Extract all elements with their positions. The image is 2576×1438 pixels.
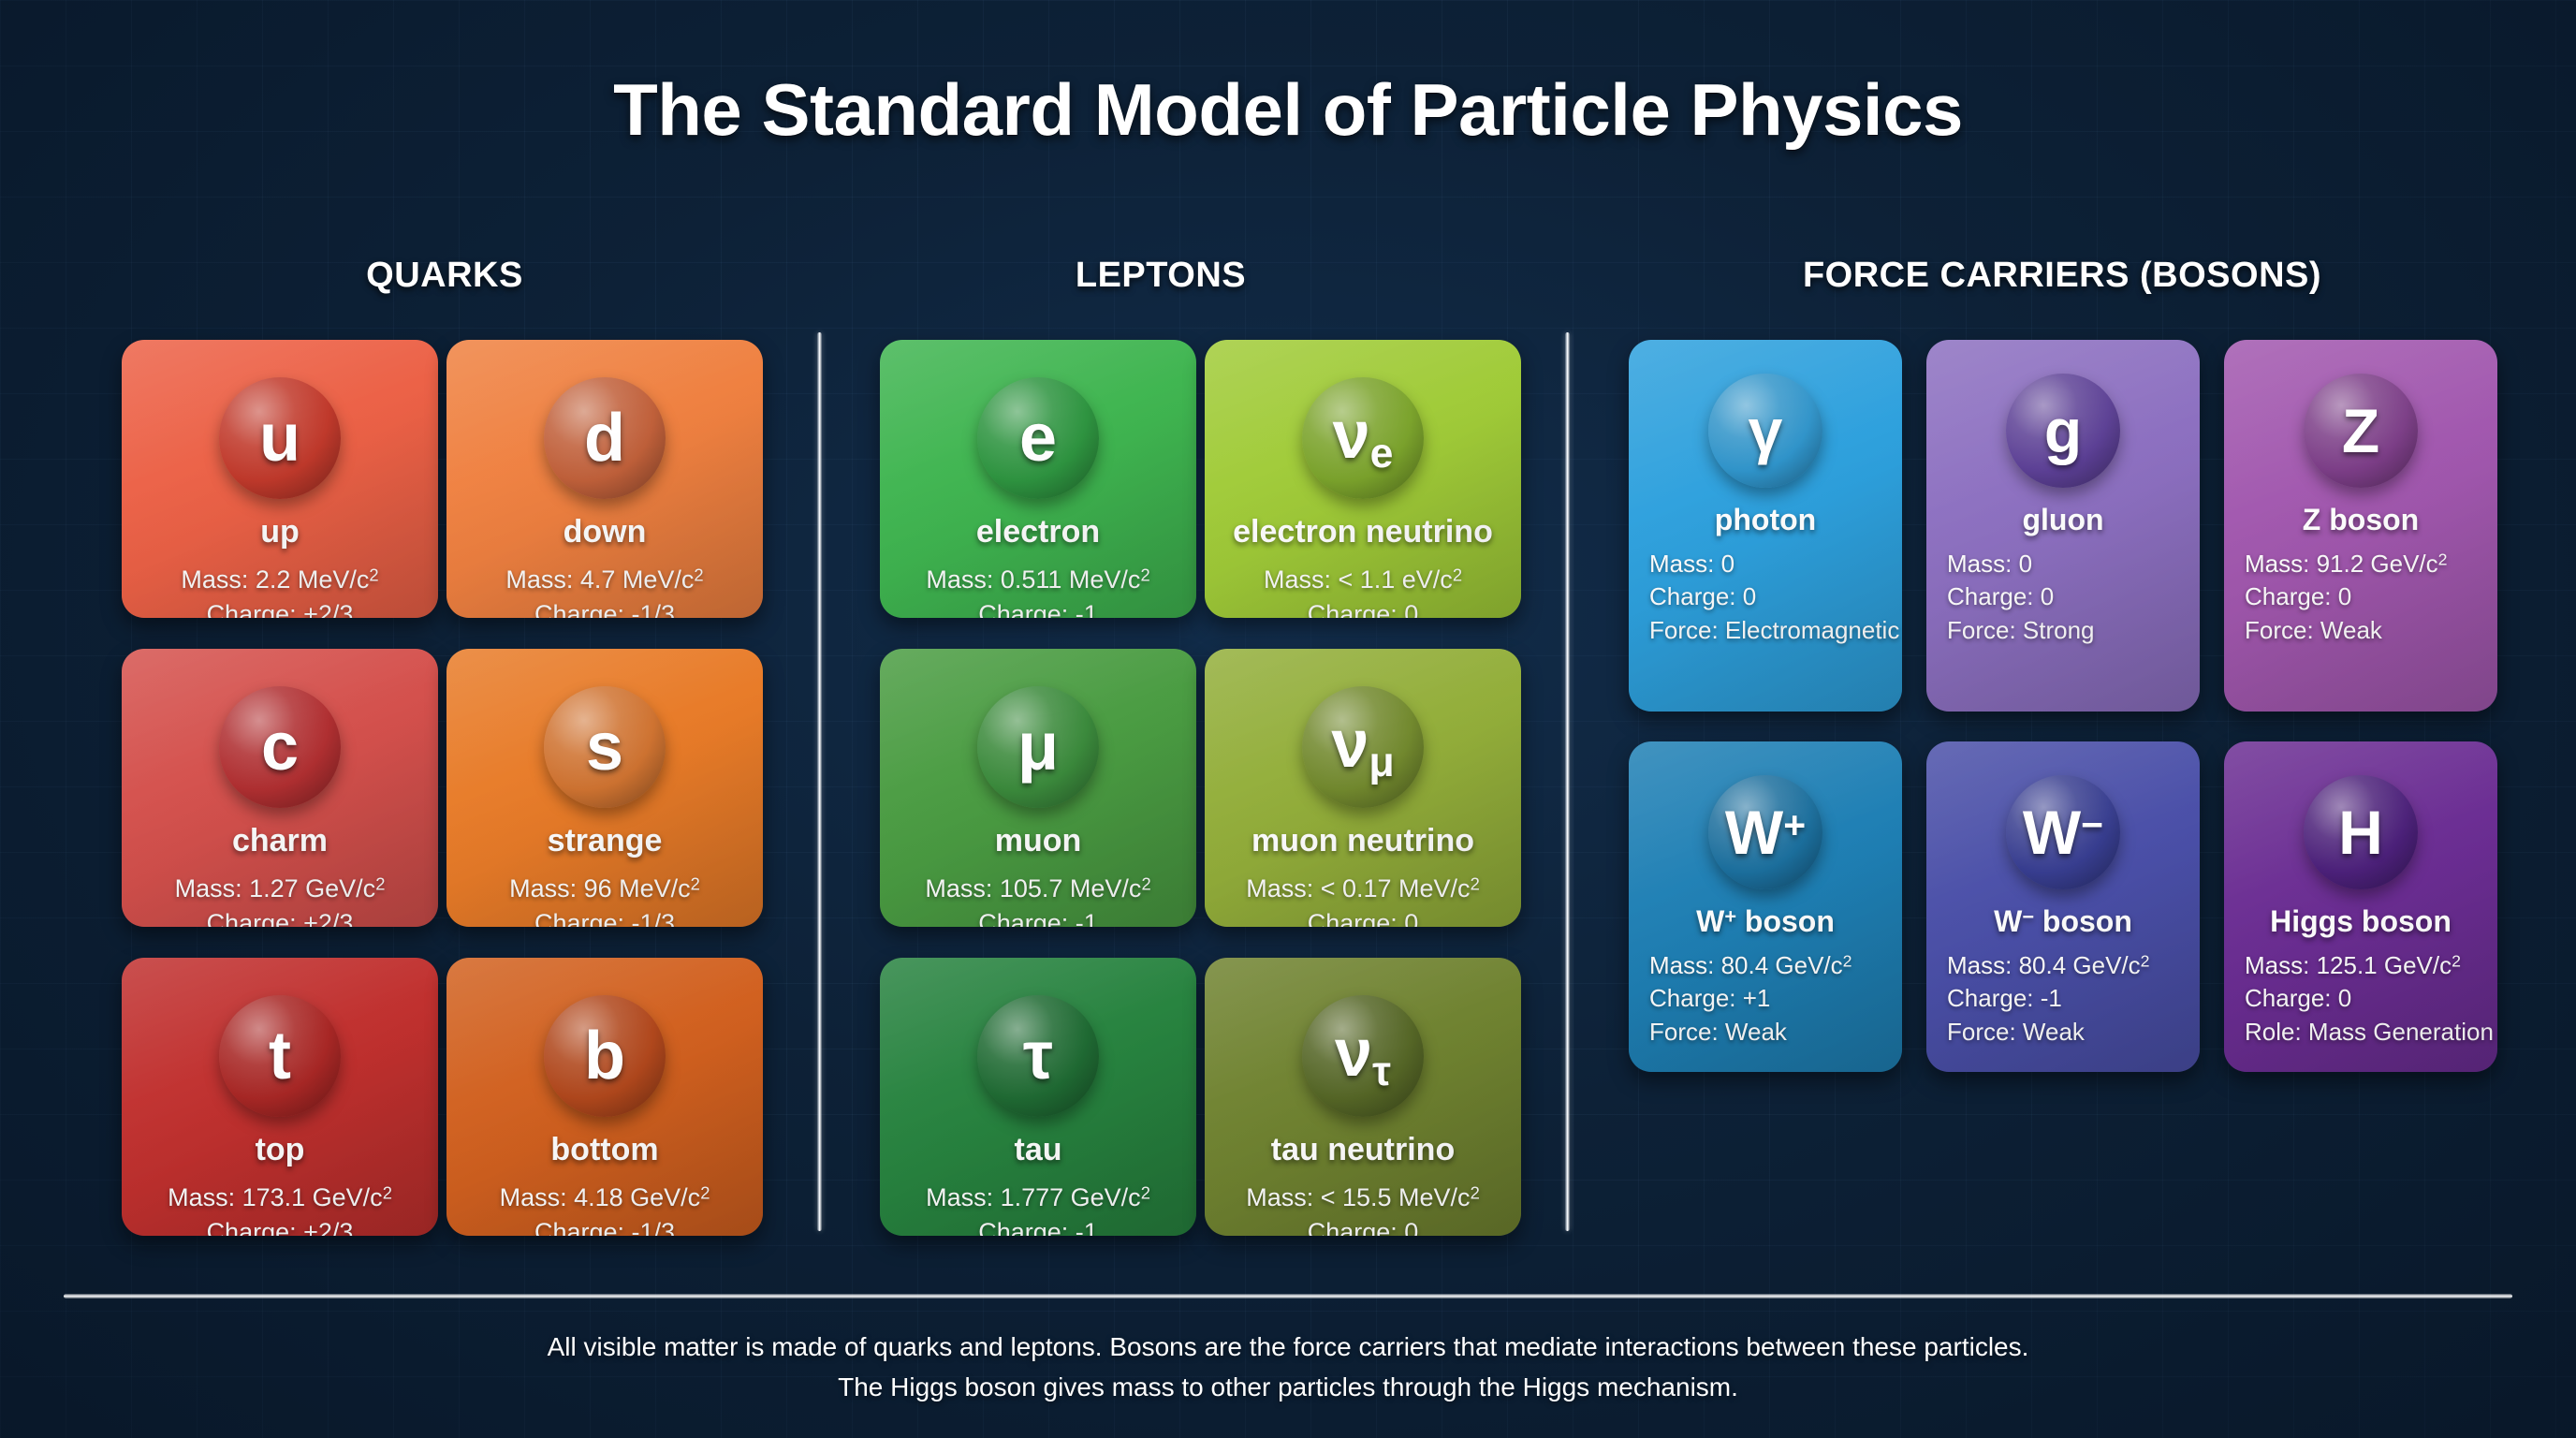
particle-role: Force: Electromagnetic (1649, 614, 1902, 647)
particle-charge: Charge: -1 (880, 597, 1196, 618)
column-divider-1 (817, 332, 822, 1231)
particle-charge: Charge: 0 (2245, 580, 2497, 613)
particle-stats: Mass: < 15.5 MeV/c2Charge: 0 (1205, 1181, 1521, 1236)
particle-mass: Mass: 0.511 MeV/c2 (880, 563, 1196, 597)
particle-mass: Mass: < 1.1 eV/c2 (1205, 563, 1521, 597)
infographic-root: The Standard Model of Particle Physics Q… (0, 0, 2576, 1438)
particle-name: photon (1629, 503, 1902, 537)
particle-symbol: s (586, 713, 623, 781)
particle-symbol: t (269, 1022, 291, 1090)
particle-mass: Mass: 0 (1947, 548, 2200, 580)
particle-card[interactable]: ντtau neutrinoMass: < 15.5 MeV/c2Charge:… (1205, 958, 1521, 1236)
particle-sphere-icon: d (544, 377, 666, 499)
particle-mass: Mass: 4.18 GeV/c2 (446, 1181, 763, 1215)
particle-stats: Mass: 1.27 GeV/c2Charge: +2/3 (122, 872, 438, 927)
particle-name: top (122, 1132, 438, 1168)
particle-charge: Charge: +2/3 (122, 597, 438, 618)
particle-symbol: Z (2342, 400, 2379, 462)
particle-sphere-icon: s (544, 686, 666, 808)
particle-sphere-icon: μ (977, 686, 1099, 808)
particle-mass: Mass: < 15.5 MeV/c2 (1205, 1181, 1521, 1215)
particle-charge: Charge: +2/3 (122, 906, 438, 927)
particle-name: bottom (446, 1132, 763, 1168)
particle-stats: Mass: 4.18 GeV/c2Charge: -1/3 (446, 1181, 763, 1236)
particle-sphere-icon: νe (1302, 377, 1424, 499)
particle-card[interactable]: γphotonMass: 0Charge: 0Force: Electromag… (1629, 340, 1902, 712)
particle-role: Force: Weak (2245, 614, 2497, 647)
particle-role: Force: Weak (1649, 1016, 1902, 1049)
particle-card[interactable]: ggluonMass: 0Charge: 0Force: Strong (1926, 340, 2200, 712)
particle-mass: Mass: 4.7 MeV/c2 (446, 563, 763, 597)
particle-charge: Charge: +1 (1649, 982, 1902, 1015)
particle-card[interactable]: τtauMass: 1.777 GeV/c2Charge: -1 (880, 958, 1196, 1236)
particle-mass: Mass: 1.27 GeV/c2 (122, 872, 438, 906)
particle-name: tau neutrino (1205, 1132, 1521, 1168)
particle-stats: Mass: 2.2 MeV/c2Charge: +2/3 (122, 563, 438, 618)
particle-symbol: u (259, 404, 300, 472)
particle-sphere-icon: c (219, 686, 341, 808)
particle-name: up (122, 514, 438, 550)
particle-charge: Charge: 0 (1205, 1215, 1521, 1236)
particle-symbol: c (261, 713, 299, 781)
particle-stats: Mass: 91.2 GeV/c2Charge: 0Force: Weak (2224, 548, 2497, 647)
particle-mass: Mass: 105.7 MeV/c2 (880, 872, 1196, 906)
particle-card[interactable]: ZZ bosonMass: 91.2 GeV/c2Charge: 0Force:… (2224, 340, 2497, 712)
particle-name: tau (880, 1132, 1196, 1168)
particle-role: Force: Strong (1947, 614, 2200, 647)
particle-card[interactable]: W−W− bosonMass: 80.4 GeV/c2Charge: -1For… (1926, 741, 2200, 1072)
particle-stats: Mass: 0Charge: 0Force: Strong (1926, 548, 2200, 647)
particle-charge: Charge: 0 (1205, 597, 1521, 618)
particle-symbol: ντ (1335, 1020, 1391, 1093)
section-header-leptons: LEPTONS (880, 256, 1442, 296)
particle-mass: Mass: 80.4 GeV/c2 (1947, 949, 2200, 982)
particle-sphere-icon: H (2304, 775, 2418, 889)
particle-sphere-icon: g (2006, 374, 2120, 488)
column-divider-2 (1565, 332, 1570, 1231)
particle-stats: Mass: 173.1 GeV/c2Charge: +2/3 (122, 1181, 438, 1236)
particle-sphere-icon: e (977, 377, 1099, 499)
particle-name: Higgs boson (2224, 904, 2497, 939)
section-header-bosons: FORCE CARRIERS (BOSONS) (1629, 256, 2495, 296)
particle-name: strange (446, 823, 763, 859)
particle-card[interactable]: HHiggs bosonMass: 125.1 GeV/c2Charge: 0R… (2224, 741, 2497, 1072)
particle-symbol: H (2338, 801, 2383, 863)
particle-sphere-icon: u (219, 377, 341, 499)
particle-stats: Mass: 105.7 MeV/c2Charge: -1 (880, 872, 1196, 927)
particle-charge: Charge: -1/3 (446, 906, 763, 927)
particle-name: W+ boson (1629, 904, 1902, 939)
particle-sphere-icon: τ (977, 995, 1099, 1117)
particle-card[interactable]: ttopMass: 173.1 GeV/c2Charge: +2/3 (122, 958, 438, 1236)
particle-stats: Mass: < 0.17 MeV/c2Charge: 0 (1205, 872, 1521, 927)
particle-sphere-icon: νμ (1302, 686, 1424, 808)
particle-symbol: d (584, 404, 625, 472)
particle-mass: Mass: < 0.17 MeV/c2 (1205, 872, 1521, 906)
particle-name: electron neutrino (1205, 514, 1521, 550)
particle-stats: Mass: 0.511 MeV/c2Charge: -1 (880, 563, 1196, 618)
particle-symbol: W− (2023, 801, 2103, 863)
particle-card[interactable]: ccharmMass: 1.27 GeV/c2Charge: +2/3 (122, 649, 438, 927)
particle-card[interactable]: eelectronMass: 0.511 MeV/c2Charge: -1 (880, 340, 1196, 618)
particle-card[interactable]: νμmuon neutrinoMass: < 0.17 MeV/c2Charge… (1205, 649, 1521, 927)
footer-line-1: All visible matter is made of quarks and… (0, 1328, 2576, 1368)
particle-symbol: νe (1333, 402, 1394, 475)
particle-card[interactable]: νeelectron neutrinoMass: < 1.1 eV/c2Char… (1205, 340, 1521, 618)
particle-card[interactable]: sstrangeMass: 96 MeV/c2Charge: -1/3 (446, 649, 763, 927)
particle-mass: Mass: 91.2 GeV/c2 (2245, 548, 2497, 580)
particle-name: Z boson (2224, 503, 2497, 537)
particle-name: gluon (1926, 503, 2200, 537)
particle-sphere-icon: b (544, 995, 666, 1117)
particle-mass: Mass: 0 (1649, 548, 1902, 580)
section-header-quarks: QUARKS (122, 256, 768, 296)
particle-charge: Charge: -1/3 (446, 1215, 763, 1236)
particle-mass: Mass: 2.2 MeV/c2 (122, 563, 438, 597)
particle-symbol: μ (1017, 713, 1059, 781)
particle-charge: Charge: +2/3 (122, 1215, 438, 1236)
footer-divider (64, 1294, 2512, 1299)
particle-mass: Mass: 173.1 GeV/c2 (122, 1181, 438, 1215)
particle-stats: Mass: 4.7 MeV/c2Charge: -1/3 (446, 563, 763, 618)
particle-sphere-icon: ντ (1302, 995, 1424, 1117)
particle-name: W− boson (1926, 904, 2200, 939)
particle-sphere-icon: Z (2304, 374, 2418, 488)
particle-stats: Mass: 0Charge: 0Force: Electromagnetic (1629, 548, 1902, 647)
particle-card[interactable]: ddownMass: 4.7 MeV/c2Charge: -1/3 (446, 340, 763, 618)
particle-symbol: τ (1023, 1022, 1053, 1090)
particle-symbol: νμ (1331, 711, 1394, 784)
particle-charge: Charge: -1 (1947, 982, 2200, 1015)
particle-stats: Mass: 96 MeV/c2Charge: -1/3 (446, 872, 763, 927)
particle-card[interactable]: uupMass: 2.2 MeV/c2Charge: +2/3 (122, 340, 438, 618)
particle-charge: Charge: 0 (1649, 580, 1902, 613)
particle-card[interactable]: W+W+ bosonMass: 80.4 GeV/c2Charge: +1For… (1629, 741, 1902, 1072)
particle-mass: Mass: 125.1 GeV/c2 (2245, 949, 2497, 982)
particle-mass: Mass: 96 MeV/c2 (446, 872, 763, 906)
particle-role: Role: Mass Generation (2245, 1016, 2497, 1049)
particle-name: down (446, 514, 763, 550)
particle-card[interactable]: bbottomMass: 4.18 GeV/c2Charge: -1/3 (446, 958, 763, 1236)
particle-stats: Mass: 1.777 GeV/c2Charge: -1 (880, 1181, 1196, 1236)
particle-symbol: e (1019, 404, 1057, 472)
particle-charge: Charge: -1 (880, 906, 1196, 927)
particle-name: muon neutrino (1205, 823, 1521, 859)
particle-role: Force: Weak (1947, 1016, 2200, 1049)
particle-stats: Mass: 80.4 GeV/c2Charge: +1Force: Weak (1629, 949, 1902, 1049)
particle-mass: Mass: 80.4 GeV/c2 (1649, 949, 1902, 982)
particle-mass: Mass: 1.777 GeV/c2 (880, 1181, 1196, 1215)
particle-sphere-icon: t (219, 995, 341, 1117)
particle-symbol: γ (1749, 400, 1783, 462)
particle-charge: Charge: -1/3 (446, 597, 763, 618)
particle-name: muon (880, 823, 1196, 859)
particle-card[interactable]: μmuonMass: 105.7 MeV/c2Charge: -1 (880, 649, 1196, 927)
particle-charge: Charge: 0 (2245, 982, 2497, 1015)
footer-note: All visible matter is made of quarks and… (0, 1328, 2576, 1407)
particle-sphere-icon: γ (1708, 374, 1822, 488)
particle-name: charm (122, 823, 438, 859)
particle-name: electron (880, 514, 1196, 550)
particle-stats: Mass: 80.4 GeV/c2Charge: -1Force: Weak (1926, 949, 2200, 1049)
particle-symbol: g (2044, 400, 2082, 462)
particle-symbol: b (584, 1022, 625, 1090)
particle-symbol: W+ (1725, 801, 1806, 863)
particle-sphere-icon: W− (2006, 775, 2120, 889)
particle-charge: Charge: -1 (880, 1215, 1196, 1236)
footer-line-2: The Higgs boson gives mass to other part… (0, 1368, 2576, 1408)
page-title: The Standard Model of Particle Physics (0, 67, 2576, 153)
particle-stats: Mass: 125.1 GeV/c2Charge: 0Role: Mass Ge… (2224, 949, 2497, 1049)
particle-charge: Charge: 0 (1947, 580, 2200, 613)
particle-charge: Charge: 0 (1205, 906, 1521, 927)
particle-stats: Mass: < 1.1 eV/c2Charge: 0 (1205, 563, 1521, 618)
particle-sphere-icon: W+ (1708, 775, 1822, 889)
